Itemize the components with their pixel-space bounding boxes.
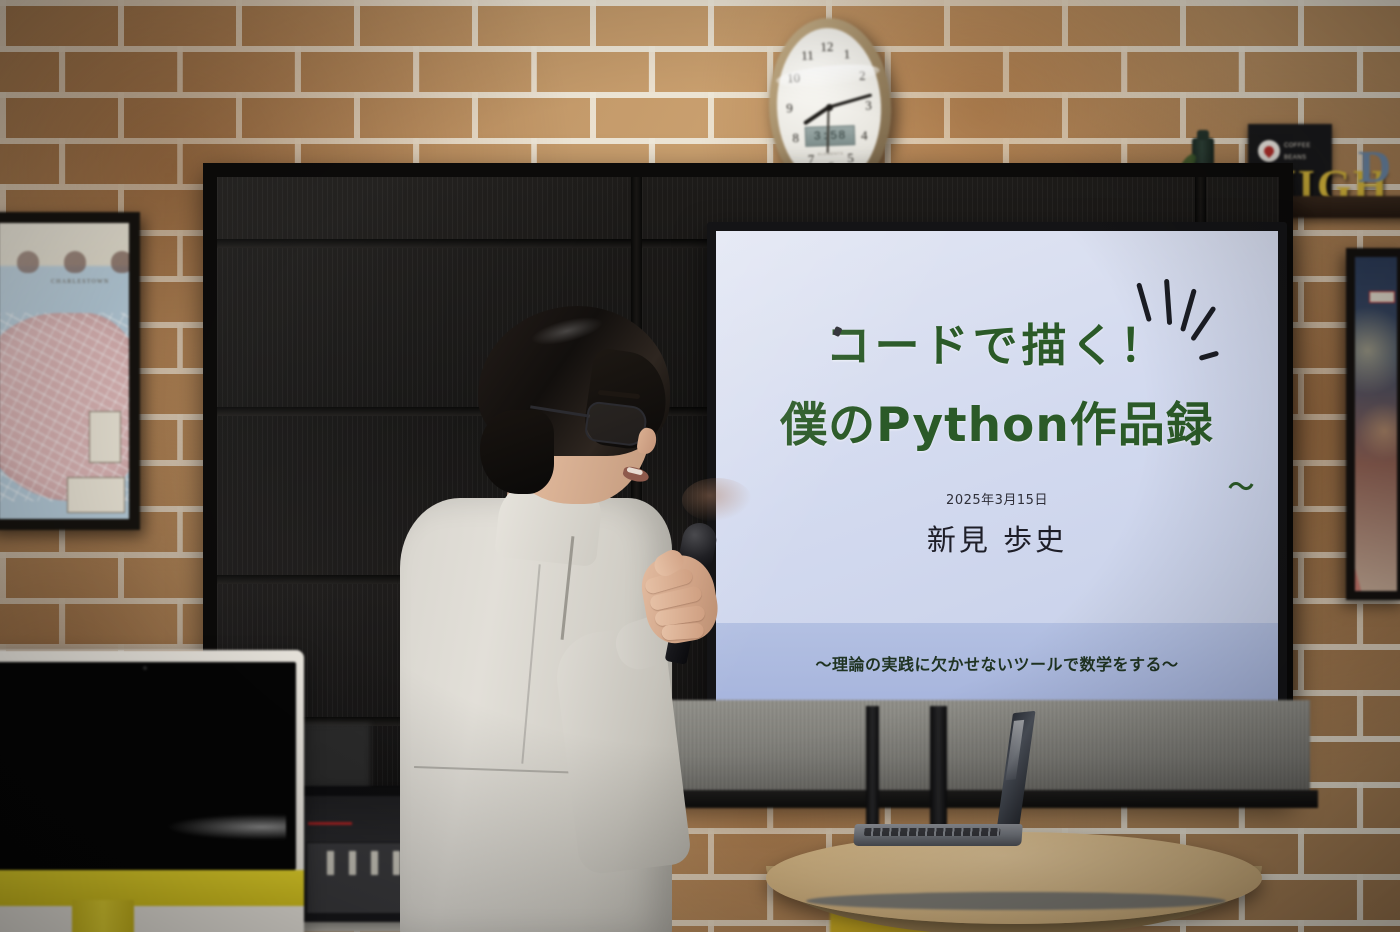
tv-stand-post-secondary — [866, 706, 879, 826]
sparkle-stroke — [1190, 306, 1217, 342]
sparkle-stroke — [1180, 288, 1197, 332]
sparkle-stroke — [1164, 279, 1172, 325]
clock-numeral: 11 — [801, 47, 814, 63]
presenter-teeth — [626, 467, 643, 476]
wall-sign-letter-d: D — [1358, 140, 1391, 193]
mixer-red-indicator — [308, 822, 352, 825]
poster-sign-detail — [1369, 291, 1395, 303]
imac-stand — [72, 900, 134, 932]
poster-artwork — [1355, 257, 1397, 591]
clock-numeral: 8 — [792, 130, 799, 146]
hair-nape — [480, 410, 554, 494]
mixer-fader[interactable] — [370, 850, 379, 876]
imac-screen-glare — [166, 814, 286, 840]
mixer-fader[interactable] — [326, 850, 335, 876]
slide-author: 新見 歩史 — [927, 517, 1067, 559]
clock-numeral: 4 — [861, 128, 868, 144]
table-foot-ring — [806, 892, 1226, 910]
imac-screen[interactable] — [0, 662, 296, 870]
slide-subtitle: 〜理論の実践に欠かせないツールで数学をする〜 — [815, 651, 1178, 675]
slide-date: 2025年3月15日 — [946, 489, 1048, 508]
finger — [661, 623, 704, 641]
clock-numeral: 9 — [786, 100, 793, 116]
framed-poster-right — [1346, 248, 1400, 600]
sparkle-stroke — [1199, 351, 1220, 361]
clock-numeral: 1 — [843, 46, 850, 62]
av-shelf — [620, 700, 1310, 795]
webcam-icon — [143, 666, 147, 670]
imac-computer[interactable] — [0, 650, 304, 932]
clock-glass-glare — [775, 61, 880, 91]
imac-body — [0, 650, 304, 932]
badge-icon — [1258, 140, 1280, 162]
sparkle-stroke — [1136, 282, 1152, 322]
presenter — [380, 300, 720, 932]
clock-digital-display: 3:58 — [805, 125, 856, 147]
slide-body: コードで描く！ 僕のPython作品録 〜 2025年3月15日 新見 歩史 — [716, 231, 1278, 623]
frame-glass-reflection — [0, 223, 129, 519]
clock-brand-label: ELEMENTS — [818, 151, 844, 157]
imac-chin — [0, 870, 304, 906]
presentation-scene: CHARLESTOWN COFFEE BEANS S HIGH SC D 12 — [0, 0, 1400, 932]
board-line-1: COFFEE — [1284, 142, 1311, 151]
clock-numeral: 12 — [820, 39, 834, 55]
map-artwork: CHARLESTOWN — [0, 223, 129, 519]
slide-footer-band: 〜理論の実践に欠かせないツールで数学をする〜 — [716, 623, 1278, 703]
jaw-shadow — [682, 478, 752, 522]
laptop-base[interactable] — [853, 824, 1023, 846]
framed-map-left: CHARLESTOWN — [0, 212, 140, 530]
laptop-keyboard[interactable] — [864, 828, 1001, 836]
mixer-fader[interactable] — [348, 850, 357, 876]
slide-title-line-1: コードで描く！ — [825, 309, 1168, 374]
clock-numeral: 3 — [865, 98, 872, 114]
slide-squiggle: 〜 — [1228, 467, 1254, 504]
presentation-tv[interactable]: コードで描く！ 僕のPython作品録 〜 2025年3月15日 新見 歩史 〜… — [707, 222, 1287, 712]
sparkle-decoration — [1130, 279, 1250, 379]
slide-title-line-2: 僕のPython作品録 — [780, 386, 1214, 455]
clock-center-pin — [825, 103, 832, 110]
slide: コードで描く！ 僕のPython作品録 〜 2025年3月15日 新見 歩史 〜… — [716, 231, 1278, 703]
